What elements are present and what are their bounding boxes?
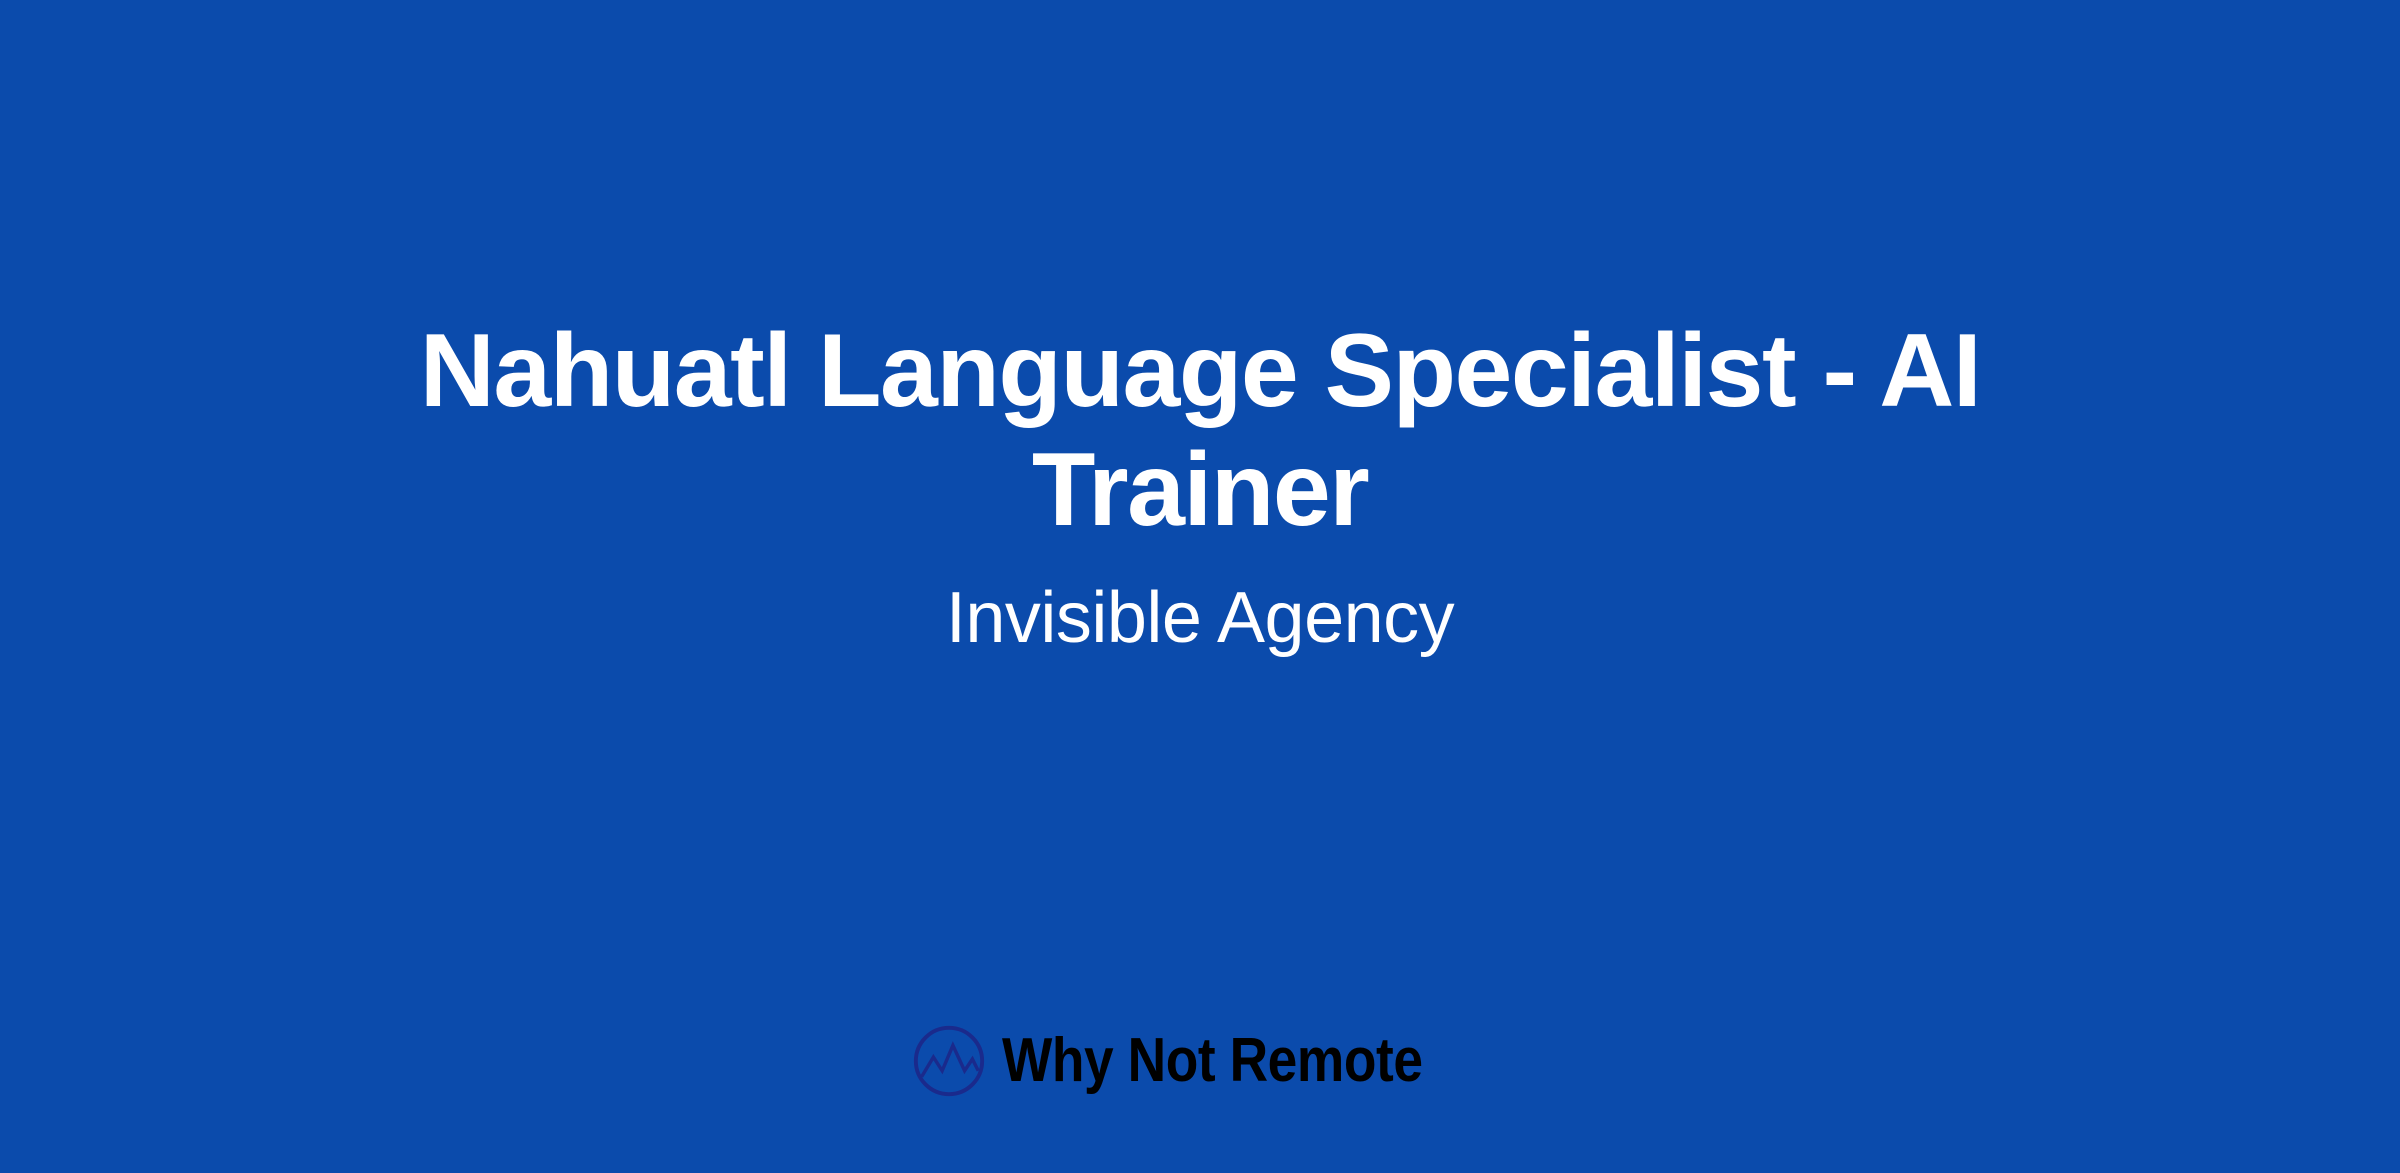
- brand-name-text: Why Not Remote: [1002, 1030, 1423, 1092]
- page-title: Nahuatl Language Specialist - AI Trainer: [380, 312, 2020, 549]
- company-name: Invisible Agency: [946, 575, 1454, 661]
- brand-logo: Why Not Remote: [0, 1022, 2400, 1100]
- hero-section: Nahuatl Language Specialist - AI Trainer…: [0, 0, 2400, 1010]
- job-posting-slide: Nahuatl Language Specialist - AI Trainer…: [0, 0, 2400, 1173]
- mountain-circle-icon: [910, 1022, 988, 1100]
